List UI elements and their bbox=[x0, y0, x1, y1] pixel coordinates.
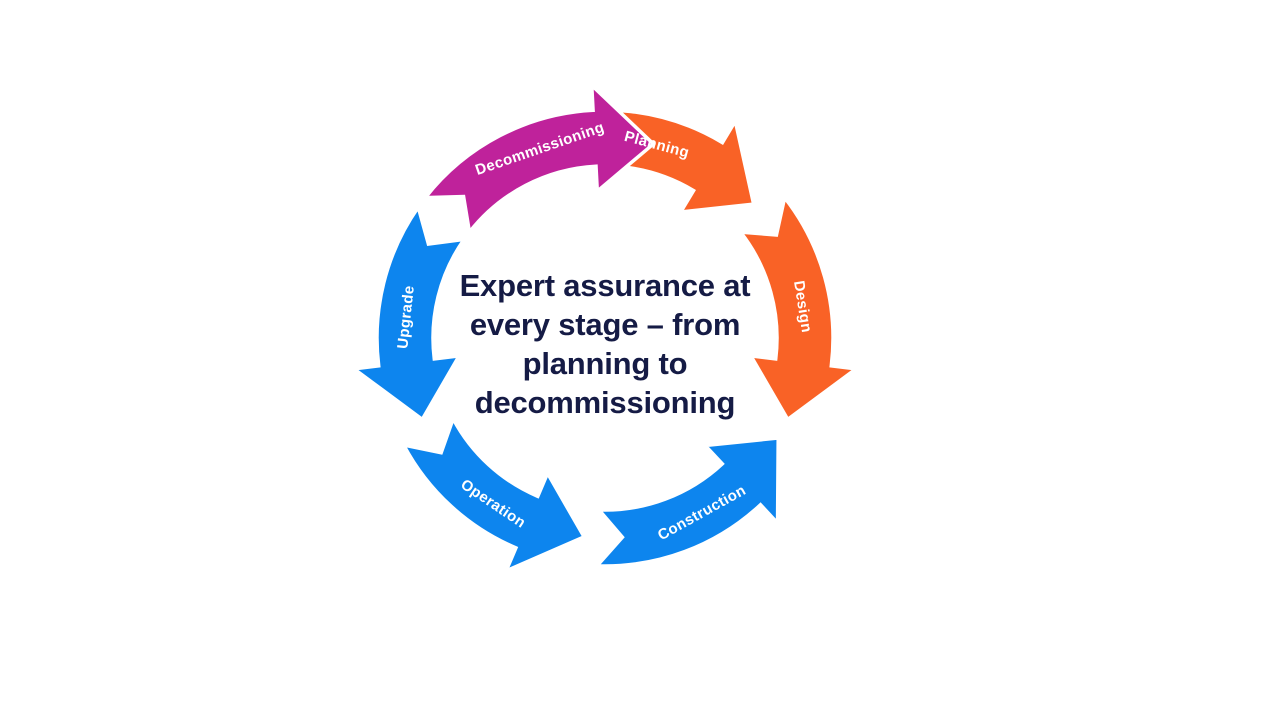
cycle-segment-decommissioning[interactable] bbox=[425, 85, 653, 232]
cycle-segment-construction[interactable] bbox=[597, 438, 778, 566]
center-message-line: planning to bbox=[455, 344, 755, 383]
center-message-line: Expert assurance at bbox=[455, 266, 755, 305]
diagram-canvas: PlanningDesignConstructionOperationUpgra… bbox=[0, 0, 1280, 720]
center-message: Expert assurance atevery stage – frompla… bbox=[455, 266, 755, 422]
center-message-line: decommissioning bbox=[455, 383, 755, 422]
center-message-line: every stage – from bbox=[455, 305, 755, 344]
